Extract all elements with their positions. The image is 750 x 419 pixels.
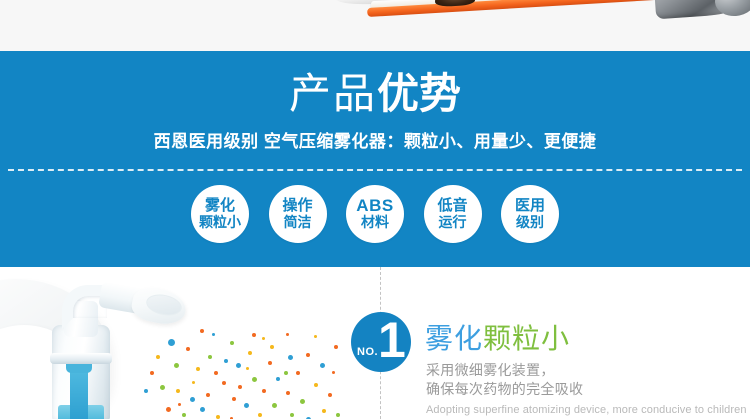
particle-dot [262,389,266,393]
particle-dot [328,393,332,397]
particle-dot [246,367,249,370]
badge-line2: 级别 [516,214,544,231]
particle-dot [262,337,265,340]
feature-english-text: Adopting superfine atomizing device, mor… [426,403,747,417]
particle-dot [334,345,338,349]
cropped-product-photo [335,0,750,24]
particle-dot [296,371,300,375]
particle-dot [200,329,204,333]
particle-dot [176,389,180,393]
particle-dot [238,385,242,389]
particle-dot [192,381,195,384]
particle-dot [208,355,212,359]
feature-number-prefix: NO. [357,346,378,358]
feature-heading: 雾化颗粒小 [425,322,570,356]
badge-line1: 医用 [515,197,545,214]
particle-dot [232,397,236,401]
particle-dot [314,335,317,338]
feature-number: 1 [378,315,406,365]
badge-line1: 低音 [437,197,467,214]
particle-dot [306,353,310,357]
particle-dot [258,413,262,417]
particle-dot [300,399,305,404]
product-advantage-page: 产品优势 西恩医用级别 空气压缩雾化器：颗粒小、用量少、更便捷 雾化 颗粒小 操… [0,0,750,419]
dashed-divider [8,169,742,171]
particle-dot [322,409,326,413]
particle-dot [168,339,175,346]
particle-dot [244,403,249,408]
particle-dot [182,413,186,417]
badge-medical-grade[interactable]: 医用 级别 [501,185,559,243]
badge-atomized-particle[interactable]: 雾化 颗粒小 [191,185,249,243]
particle-dot [290,413,294,417]
page-title-bold: 优势 [377,70,461,117]
particle-dot [196,367,200,371]
particle-dot [268,361,272,365]
feature-body: 采用微细雾化装置， 确保每次药物的完全吸收 [426,361,583,399]
badge-list: 雾化 颗粒小 操作 简洁 ABS 材料 低音 运行 医用 级别 [191,184,559,244]
badge-simple-operation[interactable]: 操作 简洁 [269,185,327,243]
particle-dot [160,385,165,390]
particle-dot [230,341,234,345]
advantage-banner: 产品优势 西恩医用级别 空气压缩雾化器：颗粒小、用量少、更便捷 雾化 颗粒小 操… [0,51,750,267]
feature-heading-blue: 雾化 [425,323,483,354]
badge-line1: ABS [356,197,393,214]
atomized-particles [0,267,340,419]
feature-body-line1: 采用微细雾化装置， [426,361,583,380]
particle-dot [214,371,218,375]
particle-dot [252,333,256,337]
feature-heading-green: 颗粒小 [483,323,570,354]
page-title-plain: 产品 [289,70,377,117]
nebulizer-cup-and-mouthpiece [0,267,340,419]
particle-dot [166,407,171,412]
particle-dot [206,393,210,397]
particle-dot [212,333,215,336]
badge-line2: 运行 [439,214,467,231]
particle-dot [186,347,190,351]
particle-dot [286,391,290,395]
particle-dot [286,333,289,336]
particle-dot [178,403,181,406]
particle-dot [314,383,318,387]
particle-dot [200,407,205,412]
particle-dot [222,381,226,385]
badge-line1: 雾化 [205,197,235,214]
particle-dot [248,351,252,355]
particle-dot [320,363,325,368]
badge-line2: 材料 [361,214,389,231]
badge-line2: 简洁 [284,214,312,231]
feature-body-line2: 确保每次药物的完全吸收 [426,380,583,399]
product-metal-tip [714,0,750,17]
badge-line2: 颗粒小 [199,214,241,231]
badge-line1: 操作 [282,197,312,214]
badge-abs-material[interactable]: ABS 材料 [346,185,404,243]
particle-dot [336,413,340,417]
particle-dot [150,371,154,375]
particle-dot [272,403,277,408]
particle-dot [270,345,274,349]
particle-dot [216,415,220,419]
particle-dot [252,377,257,382]
top-photo-strip [0,0,750,51]
particle-dot [276,377,280,381]
particle-dot [190,397,195,402]
particle-dot [174,363,179,368]
particle-dot [332,371,335,374]
particle-dot [288,355,293,360]
particle-dot [224,359,228,363]
particle-dot [156,355,160,359]
badge-low-noise[interactable]: 低音 运行 [424,185,482,243]
page-subtitle: 西恩医用级别 空气压缩雾化器：颗粒小、用量少、更便捷 [0,131,750,153]
page-title: 产品优势 [0,70,750,118]
particle-dot [236,363,241,368]
particle-dot [144,389,148,393]
feature-number-badge: NO. 1 [351,312,411,372]
particle-dot [284,371,288,375]
